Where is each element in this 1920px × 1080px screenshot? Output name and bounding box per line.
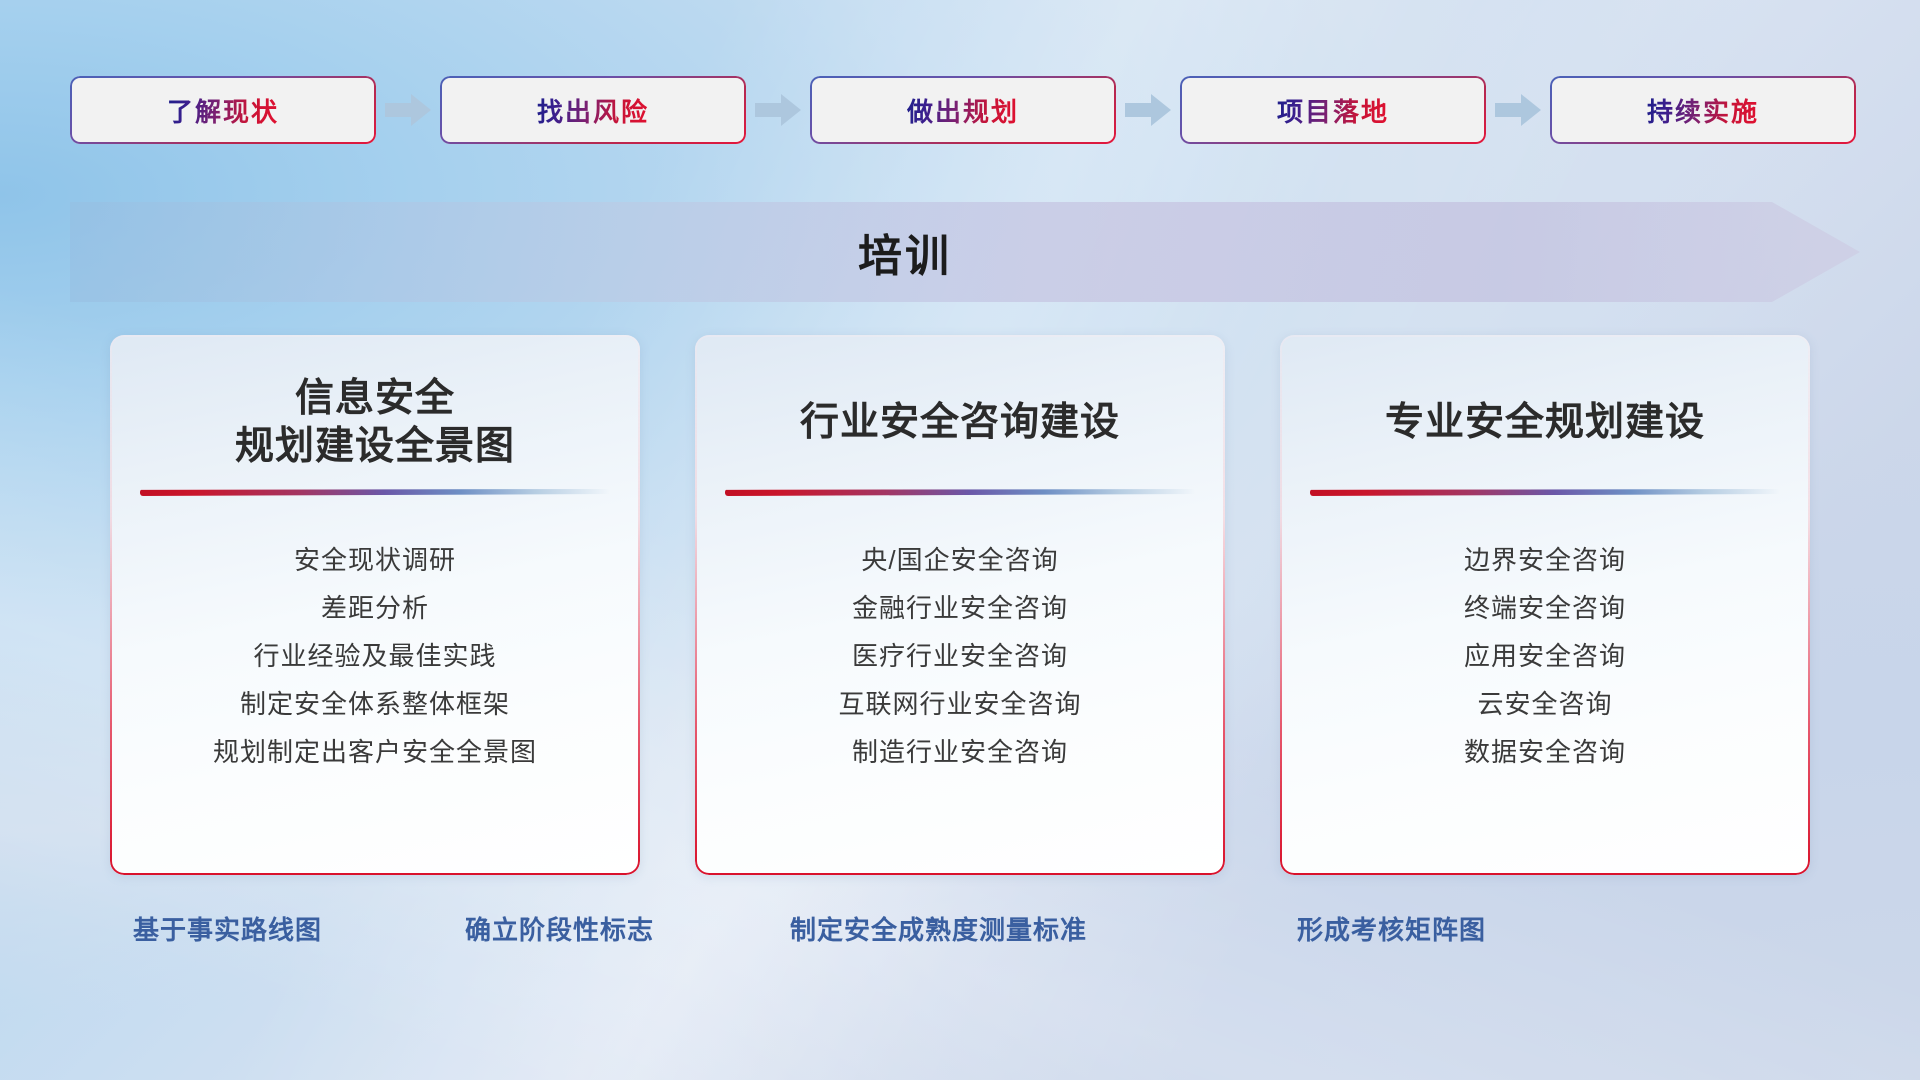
list-item: 终端安全咨询 bbox=[1464, 594, 1626, 624]
card-title: 专业安全规划建设 bbox=[1306, 373, 1784, 473]
list-item: 应用安全咨询 bbox=[1464, 642, 1626, 672]
step-separator-arrow-4 bbox=[1486, 94, 1550, 126]
list-item: 数据安全咨询 bbox=[1464, 738, 1626, 768]
list-item: 互联网行业安全咨询 bbox=[838, 690, 1081, 720]
step-label: 持续实施 bbox=[1647, 92, 1759, 129]
step-chip-3[interactable]: 做出规划 bbox=[810, 76, 1116, 144]
step-separator-arrow-2 bbox=[746, 94, 810, 126]
card-list: 央/国企安全咨询 金融行业安全咨询 医疗行业安全咨询 互联网行业安全咨询 制造行… bbox=[721, 546, 1199, 767]
card-title: 信息安全 规划建设全景图 bbox=[136, 373, 614, 473]
card-title-line: 信息安全 bbox=[295, 377, 455, 420]
list-item: 金融行业安全咨询 bbox=[852, 594, 1068, 624]
card-divider-rule bbox=[1310, 489, 1780, 496]
caption-maturity-metric: 制定安全成熟度测量标准 bbox=[790, 910, 1087, 947]
list-item: 规划制定出客户安全全景图 bbox=[213, 738, 537, 768]
step-chip-4[interactable]: 项目落地 bbox=[1180, 76, 1486, 144]
step-label: 了解现状 bbox=[167, 92, 279, 129]
banner-title: 培训 bbox=[70, 202, 1860, 302]
card-list: 边界安全咨询 终端安全咨询 应用安全咨询 云安全咨询 数据安全咨询 bbox=[1306, 546, 1784, 767]
caption-roadmap: 基于事实路线图 bbox=[133, 910, 322, 947]
card-industry-security-consulting[interactable]: 行业安全咨询建设 央/国企安全咨询 金融行业安全咨询 医疗行业安全咨询 互联网行… bbox=[695, 335, 1225, 875]
caption-milestones: 确立阶段性标志 bbox=[465, 910, 654, 947]
list-item: 行业经验及最佳实践 bbox=[253, 642, 496, 672]
card-list: 安全现状调研 差距分析 行业经验及最佳实践 制定安全体系整体框架 规划制定出客户… bbox=[136, 546, 614, 767]
card-title: 行业安全咨询建设 bbox=[721, 373, 1199, 473]
step-separator-arrow-3 bbox=[1116, 94, 1180, 126]
bottom-captions: 基于事实路线图 确立阶段性标志 制定安全成熟度测量标准 形成考核矩阵图 bbox=[0, 910, 1920, 958]
step-chip-5[interactable]: 持续实施 bbox=[1550, 76, 1856, 144]
list-item: 医疗行业安全咨询 bbox=[852, 642, 1068, 672]
card-divider-rule bbox=[725, 489, 1195, 496]
card-title-line: 规划建设全景图 bbox=[235, 425, 515, 468]
list-item: 央/国企安全咨询 bbox=[861, 546, 1058, 576]
card-divider-rule bbox=[140, 489, 610, 496]
step-separator-arrow-1 bbox=[376, 94, 440, 126]
list-item: 安全现状调研 bbox=[294, 546, 456, 576]
list-item: 制造行业安全咨询 bbox=[852, 738, 1068, 768]
content-cards: 信息安全 规划建设全景图 安全现状调研 差距分析 行业经验及最佳实践 制定安全体… bbox=[110, 335, 1810, 875]
list-item: 边界安全咨询 bbox=[1464, 546, 1626, 576]
card-title-line: 专业安全规划建设 bbox=[1385, 399, 1705, 447]
card-information-security-blueprint[interactable]: 信息安全 规划建设全景图 安全现状调研 差距分析 行业经验及最佳实践 制定安全体… bbox=[110, 335, 640, 875]
step-chip-2[interactable]: 找出风险 bbox=[440, 76, 746, 144]
card-professional-security-planning[interactable]: 专业安全规划建设 边界安全咨询 终端安全咨询 应用安全咨询 云安全咨询 数据安全… bbox=[1280, 335, 1810, 875]
step-label: 项目落地 bbox=[1277, 92, 1389, 129]
caption-assessment-matrix: 形成考核矩阵图 bbox=[1297, 910, 1486, 947]
list-item: 差距分析 bbox=[321, 594, 429, 624]
step-label: 找出风险 bbox=[537, 92, 649, 129]
training-banner: 培训 bbox=[70, 202, 1860, 302]
list-item: 制定安全体系整体框架 bbox=[240, 690, 510, 720]
card-title-line: 行业安全咨询建设 bbox=[800, 399, 1120, 447]
step-chip-1[interactable]: 了解现状 bbox=[70, 76, 376, 144]
list-item: 云安全咨询 bbox=[1477, 690, 1612, 720]
step-label: 做出规划 bbox=[907, 92, 1019, 129]
process-steps: 了解现状 找出风险 做出规划 项目落地 持续实施 bbox=[70, 76, 1860, 144]
